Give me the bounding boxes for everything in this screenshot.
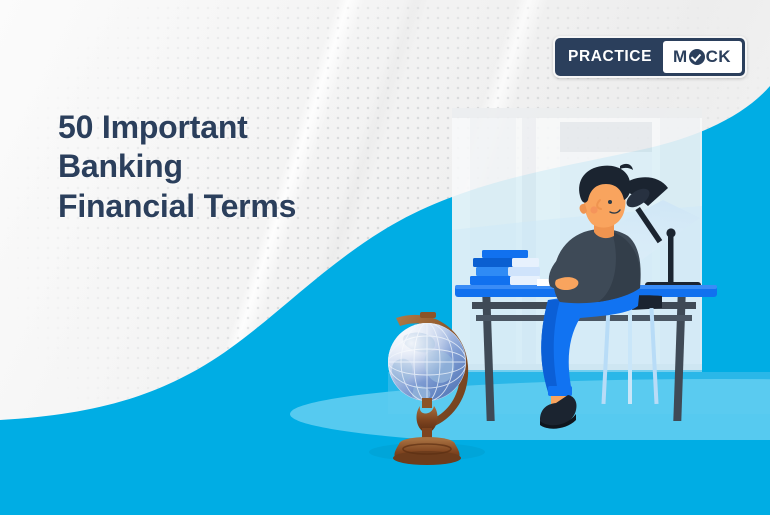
lamp-post (668, 232, 674, 284)
globe-highlight (388, 323, 466, 401)
person-eye (608, 200, 612, 204)
logo-word-mock: MCK (663, 41, 742, 73)
person-ankle (548, 386, 572, 396)
check-icon (689, 49, 705, 65)
lamp-joint (666, 228, 675, 237)
logo-mock-m: M (673, 47, 688, 67)
page-title: 50 Important Banking Financial Terms (58, 108, 296, 226)
globe-axis-top (420, 312, 436, 318)
logo-mock-ck: CK (706, 47, 731, 67)
person-cheek (590, 206, 597, 213)
globe-base-rim (393, 451, 461, 465)
practicemock-logo[interactable]: PRACTICE MCK (553, 36, 747, 78)
page-title-line-2: Banking (58, 147, 296, 186)
page-title-line-3: Financial Terms (58, 187, 296, 226)
logo-word-practice: PRACTICE (555, 38, 663, 76)
chair-leg-2 (628, 308, 632, 404)
banner-canvas: PRACTICE MCK 50 Important Banking Financ… (0, 0, 770, 515)
page-title-line-1: 50 Important (58, 108, 296, 147)
globe-axis-bottom (422, 398, 432, 408)
